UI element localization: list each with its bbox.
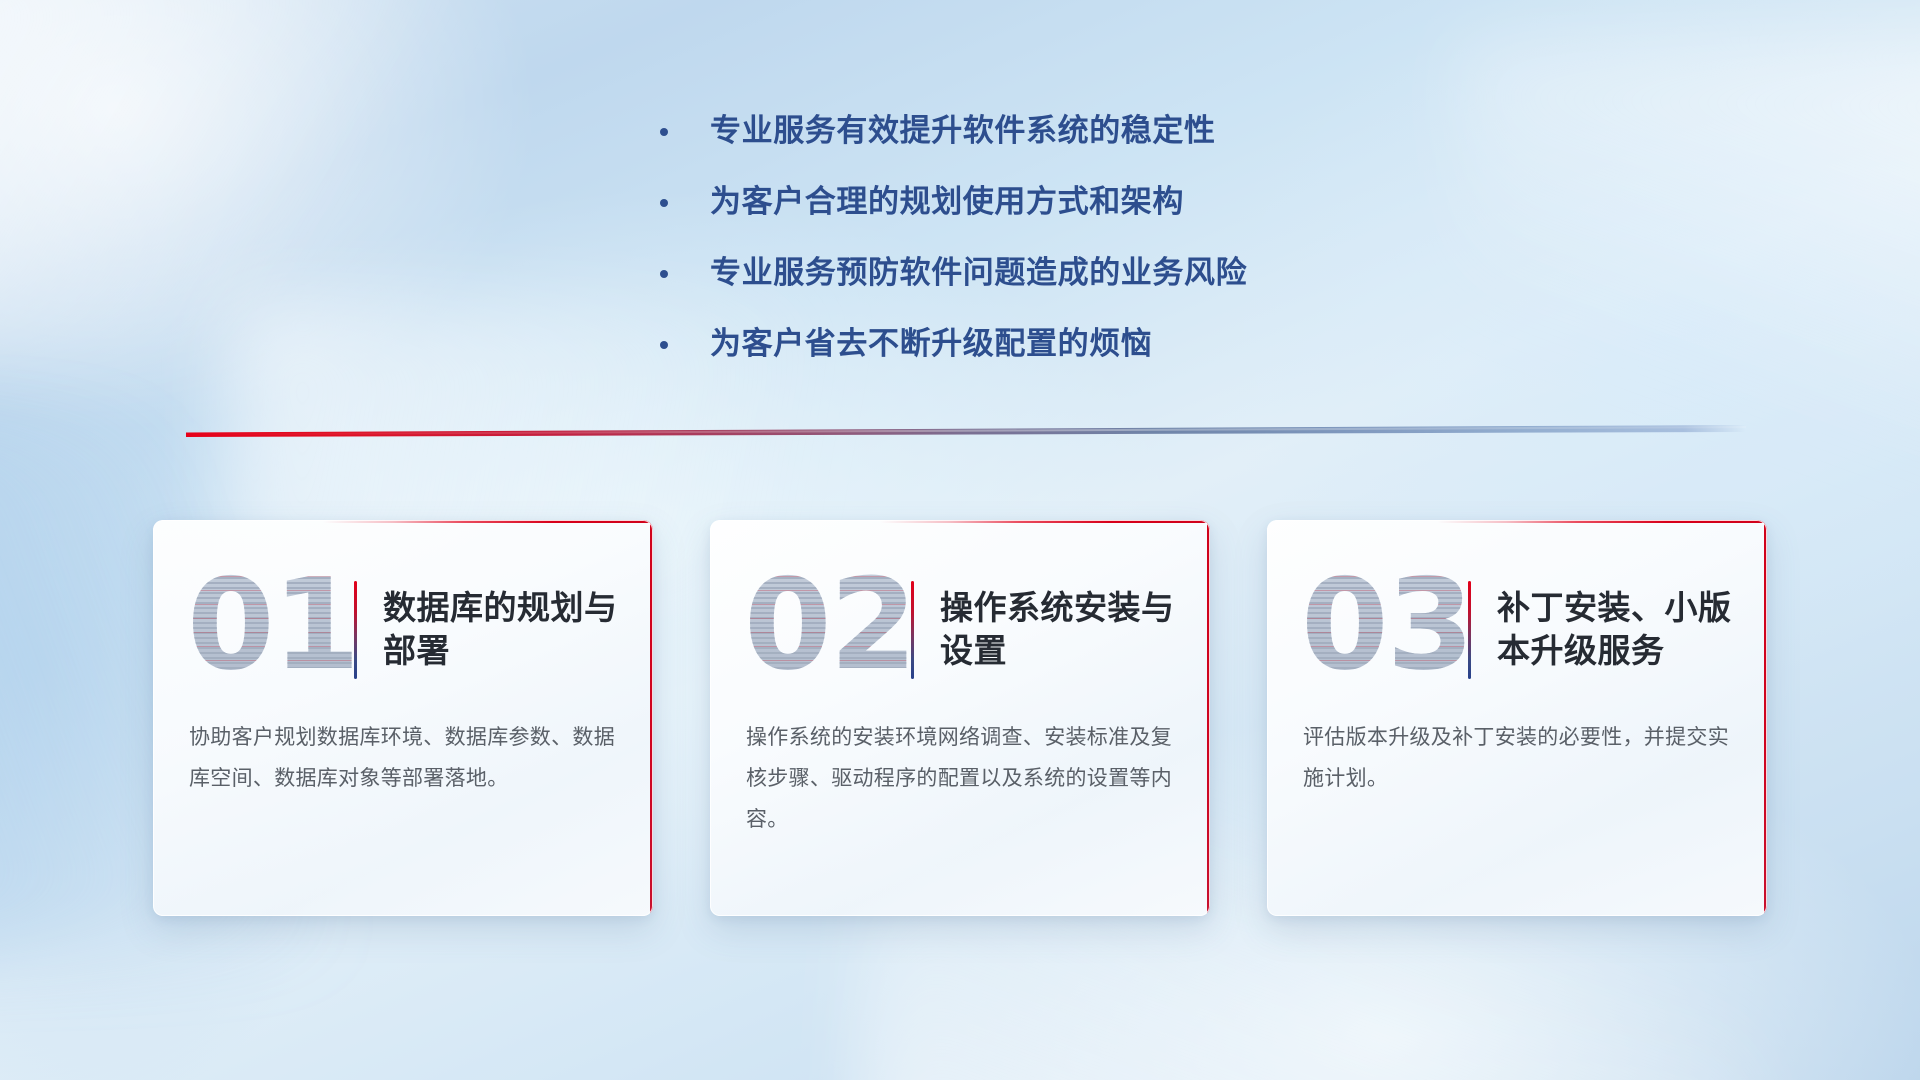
card-index-number-tint: 03 [1301, 562, 1472, 688]
card-index-number-tint: 01 [187, 562, 358, 688]
divider-highlight [186, 425, 1746, 437]
card-header: 01 01 数据库的规划与部署 [153, 520, 653, 698]
card-index-number-tint: 02 [744, 562, 915, 688]
bullet-dot-icon [660, 341, 668, 349]
card-index-watermark: 03 03 [1301, 570, 1456, 690]
list-item-label: 专业服务预防软件问题造成的业务风险 [710, 252, 1247, 294]
divider-wedge [186, 425, 1746, 437]
list-item-label: 为客户省去不断升级配置的烦恼 [710, 323, 1152, 365]
bullet-dot-icon [660, 128, 668, 136]
bullet-dot-icon [660, 270, 668, 278]
slide-canvas: 专业服务有效提升软件系统的稳定性 为客户合理的规划使用方式和架构 专业服务预防软… [0, 0, 1920, 1080]
card-body-text: 操作系统的安装环境网络调查、安装标准及复核步骤、驱动程序的配置以及系统的设置等内… [710, 718, 1210, 841]
card-title: 数据库的规划与部署 [383, 587, 619, 673]
service-card[interactable]: 02 02 操作系统安装与设置 操作系统的安装环境网络调查、安装标准及复核步骤、… [710, 520, 1210, 916]
service-card[interactable]: 01 01 数据库的规划与部署 协助客户规划数据库环境、数据库参数、数据库空间、… [153, 520, 653, 916]
service-card-group: 01 01 数据库的规划与部署 协助客户规划数据库环境、数据库参数、数据库空间、… [0, 520, 1920, 916]
service-card[interactable]: 03 03 补丁安装、小版本升级服务 评估版本升级及补丁安装的必要性，并提交实施… [1267, 520, 1767, 916]
section-divider [186, 425, 1746, 437]
background-light-streak [0, 0, 500, 360]
card-body-text: 评估版本升级及补丁安装的必要性，并提交实施计划。 [1267, 718, 1767, 800]
benefits-bullet-list: 专业服务有效提升软件系统的稳定性 为客户合理的规划使用方式和架构 专业服务预防软… [660, 110, 1420, 395]
card-title: 补丁安装、小版本升级服务 [1497, 587, 1733, 673]
card-header: 03 03 补丁安装、小版本升级服务 [1267, 520, 1767, 698]
list-item: 为客户合理的规划使用方式和架构 [660, 181, 1420, 223]
card-title: 操作系统安装与设置 [940, 587, 1176, 673]
card-header: 02 02 操作系统安装与设置 [710, 520, 1210, 698]
list-item-label: 为客户合理的规划使用方式和架构 [710, 181, 1184, 223]
list-item-label: 专业服务有效提升软件系统的稳定性 [710, 110, 1216, 152]
list-item: 专业服务有效提升软件系统的稳定性 [660, 110, 1420, 152]
card-index-watermark: 02 02 [744, 570, 899, 690]
bullet-dot-icon [660, 199, 668, 207]
background-light-streak [1460, 40, 1920, 520]
card-index-watermark: 01 01 [187, 570, 342, 690]
list-item: 专业服务预防软件问题造成的业务风险 [660, 252, 1420, 294]
card-body-text: 协助客户规划数据库环境、数据库参数、数据库空间、数据库对象等部署落地。 [153, 718, 653, 800]
list-item: 为客户省去不断升级配置的烦恼 [660, 323, 1420, 365]
